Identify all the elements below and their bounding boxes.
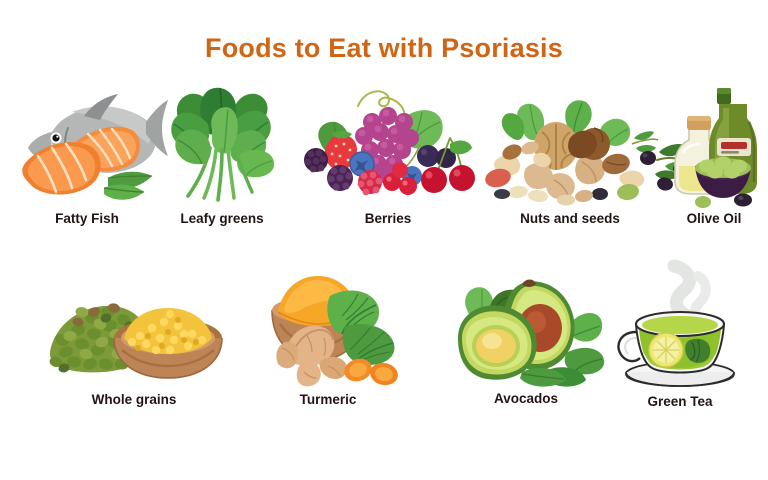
page-title: Foods to Eat with Psoriasis xyxy=(0,33,768,64)
green-tea-illustration xyxy=(612,262,748,390)
turmeric-illustration xyxy=(248,268,408,388)
nuts-and-seeds-illustration xyxy=(482,82,658,207)
avocados-illustration xyxy=(448,272,604,387)
caption-fatty-fish: Fatty Fish xyxy=(55,211,119,226)
food-item-fatty-fish: Fatty Fish xyxy=(12,82,162,226)
olive-oil-illustration xyxy=(655,82,768,207)
leafy-greens-illustration xyxy=(162,82,282,207)
food-item-turmeric: Turmeric xyxy=(248,268,408,407)
food-item-green-tea: Green Tea xyxy=(612,262,748,409)
caption-berries: Berries xyxy=(365,211,412,226)
caption-olive-oil: Olive Oil xyxy=(687,211,742,226)
whole-grains-illustration xyxy=(44,278,224,388)
food-item-nuts-and-seeds: Nuts and seeds xyxy=(482,82,658,226)
food-item-olive-oil: Olive Oil xyxy=(655,82,768,226)
food-item-avocados: Avocados xyxy=(448,272,604,406)
fatty-fish-illustration xyxy=(12,82,162,207)
caption-whole-grains: Whole grains xyxy=(92,392,177,407)
food-item-whole-grains: Whole grains xyxy=(44,278,224,407)
infographic-canvas: Foods to Eat with Psoriasis xyxy=(0,0,768,480)
berries-illustration xyxy=(300,82,476,207)
caption-green-tea: Green Tea xyxy=(647,394,712,409)
caption-nuts-and-seeds: Nuts and seeds xyxy=(520,211,620,226)
food-item-berries: Berries xyxy=(300,82,476,226)
food-item-leafy-greens: Leafy greens xyxy=(162,82,282,226)
caption-turmeric: Turmeric xyxy=(300,392,357,407)
caption-leafy-greens: Leafy greens xyxy=(180,211,263,226)
caption-avocados: Avocados xyxy=(494,391,558,406)
